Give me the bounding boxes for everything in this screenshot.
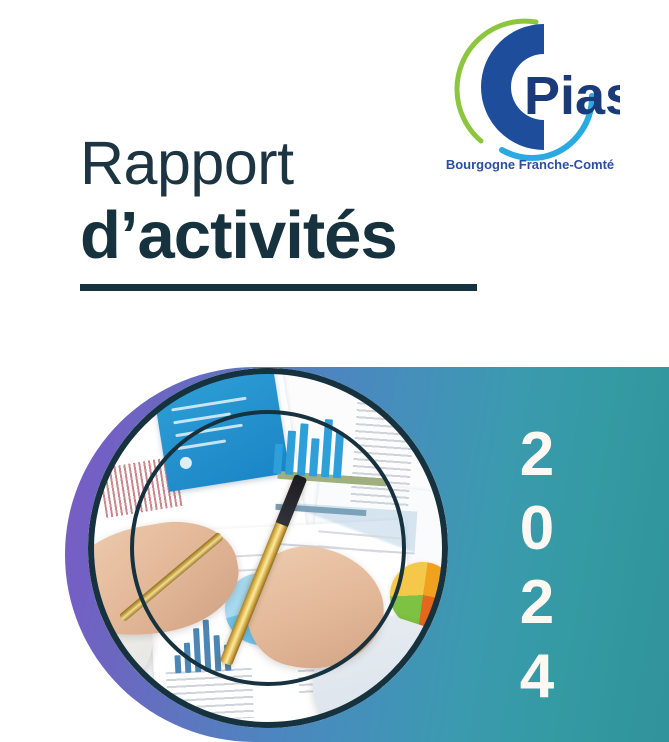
logo-wordmark: Pias xyxy=(524,66,620,126)
cover-photo xyxy=(88,368,448,728)
photo-blue-infocard xyxy=(152,368,290,492)
year-digit: 4 xyxy=(505,640,569,714)
photo-number-column xyxy=(166,668,255,723)
title-underline-rule xyxy=(80,284,477,291)
cover-page: Pias Bourgogne Franche-Comté Rapport d’a… xyxy=(0,0,669,742)
year-digit: 2 xyxy=(505,566,569,640)
photo-bar-chart xyxy=(273,416,345,479)
year-stack: 2 0 2 4 xyxy=(505,418,569,714)
year-digit: 2 xyxy=(505,418,569,492)
year-digit: 0 xyxy=(505,492,569,566)
title-line-1: Rapport xyxy=(80,128,500,198)
title-line-2: d’activités xyxy=(80,196,500,276)
photo-content xyxy=(88,368,448,728)
page-title: Rapport d’activités xyxy=(80,128,500,291)
